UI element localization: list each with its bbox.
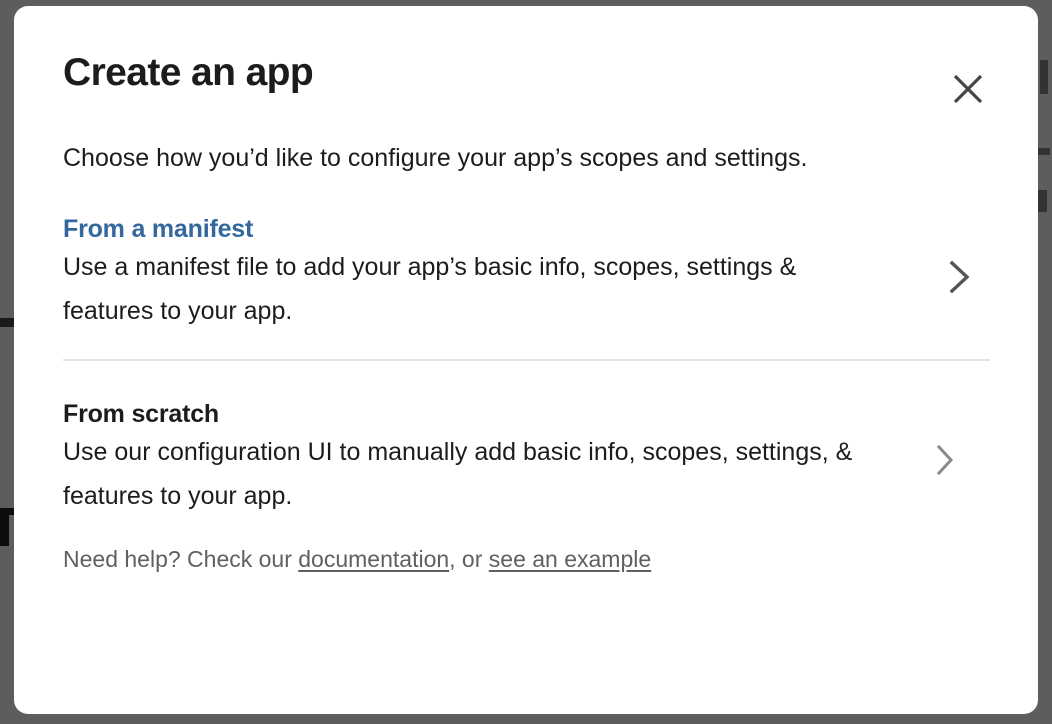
help-note-middle: , or	[449, 546, 489, 572]
background-page-fragment	[1038, 148, 1050, 155]
option-heading-from-a-manifest: From a manifest	[63, 213, 929, 245]
chevron-right-icon	[915, 440, 975, 480]
background-page-fragment	[1038, 190, 1047, 212]
see-an-example-link[interactable]: see an example	[489, 546, 651, 572]
documentation-link[interactable]: documentation	[298, 546, 449, 572]
help-note: Need help? Check our documentation, or s…	[63, 518, 989, 574]
option-description-from-a-manifest: Use a manifest file to add your app’s ba…	[63, 245, 863, 333]
close-button[interactable]	[943, 64, 993, 114]
page-title: Create an app	[63, 50, 989, 96]
help-note-prefix: Need help? Check our	[63, 546, 298, 572]
dialog-header: Create an app	[63, 6, 989, 96]
close-icon	[951, 72, 985, 106]
create-an-app-dialog: Create an app Choose how you’d like to c…	[14, 6, 1038, 714]
option-from-scratch[interactable]: From scratch Use our configuration UI to…	[63, 398, 989, 518]
option-description-from-scratch: Use our configuration UI to manually add…	[63, 430, 863, 518]
background-page-fragment	[1040, 60, 1048, 94]
option-from-a-manifest[interactable]: From a manifest Use a manifest file to a…	[63, 213, 989, 333]
option-text: From scratch Use our configuration UI to…	[63, 398, 915, 518]
background-page-fragment	[0, 318, 15, 327]
section-divider	[63, 359, 990, 361]
dialog-subtitle: Choose how you’d like to configure your …	[63, 96, 989, 174]
option-text: From a manifest Use a manifest file to a…	[63, 213, 929, 333]
option-heading-from-scratch: From scratch	[63, 398, 915, 430]
chevron-right-icon	[929, 255, 989, 299]
